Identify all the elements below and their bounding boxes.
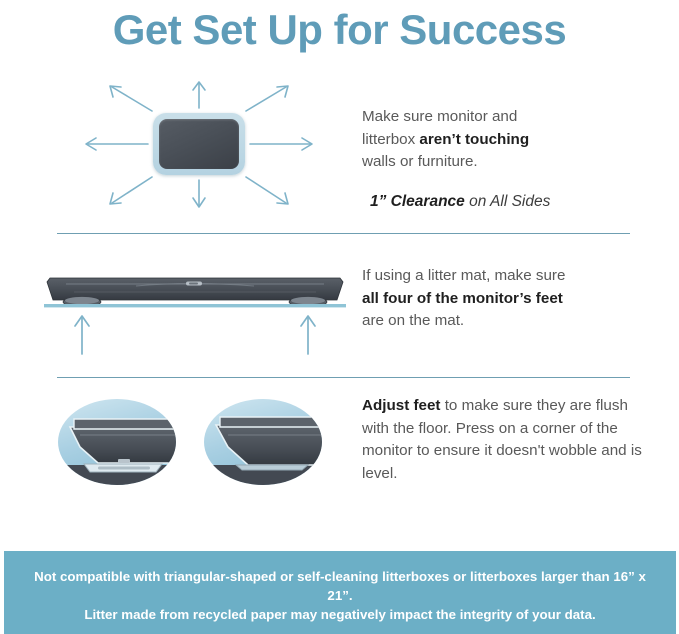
copy-clearance: Make sure monitor and litterbox aren’t t… [362, 106, 642, 213]
clearance-note-bold: 1” Clearance [370, 193, 465, 210]
section-adjust-feet: Adjust feet to make sure they are flush … [0, 385, 679, 500]
clearance-note: 1” Clearance on All Sides [362, 191, 642, 214]
monitor-screen-surface [159, 119, 239, 169]
copy-litter-mat: If using a litter mat, make sure all fou… [362, 265, 642, 333]
page-title: Get Set Up for Success [0, 2, 679, 58]
illustration-litter-mat [40, 248, 350, 373]
clearance-line-1: Make sure monitor and [362, 108, 517, 125]
section-litter-mat: If using a litter mat, make sure all fou… [0, 248, 679, 373]
section-divider-1 [57, 233, 630, 234]
illustration-clearance [40, 75, 350, 225]
clearance-line-3: walls or furniture. [362, 153, 478, 170]
section-clearance: Make sure monitor and litterbox aren’t t… [0, 75, 679, 225]
foot-closeup-left [58, 399, 190, 500]
foot-closeup-ovals [40, 385, 350, 500]
section-divider-2 [57, 377, 630, 378]
compatibility-banner: Not compatible with triangular-shaped or… [4, 551, 676, 634]
mat-line-1: If using a litter mat, make sure [362, 267, 565, 284]
mat-line-2-bold: all four of the monitor’s feet [362, 290, 563, 307]
banner-line-2: Litter made from recycled paper may nega… [30, 605, 650, 624]
copy-adjust-feet: Adjust feet to make sure they are flush … [362, 395, 642, 485]
banner-line-1: Not compatible with triangular-shaped or… [34, 569, 646, 603]
clearance-note-regular: on All Sides [465, 193, 551, 210]
foot-closeup-right [204, 399, 336, 500]
clearance-line-2-bold: aren’t touching [419, 131, 529, 148]
illustration-adjust-feet [40, 385, 350, 500]
mat-line-3: are on the mat. [362, 312, 464, 329]
monitor-top-view [153, 113, 245, 175]
clearance-line-2-prefix: litterbox [362, 131, 419, 148]
monitor-side-view-on-mat [40, 248, 350, 373]
adjust-feet-bold: Adjust feet [362, 397, 440, 414]
